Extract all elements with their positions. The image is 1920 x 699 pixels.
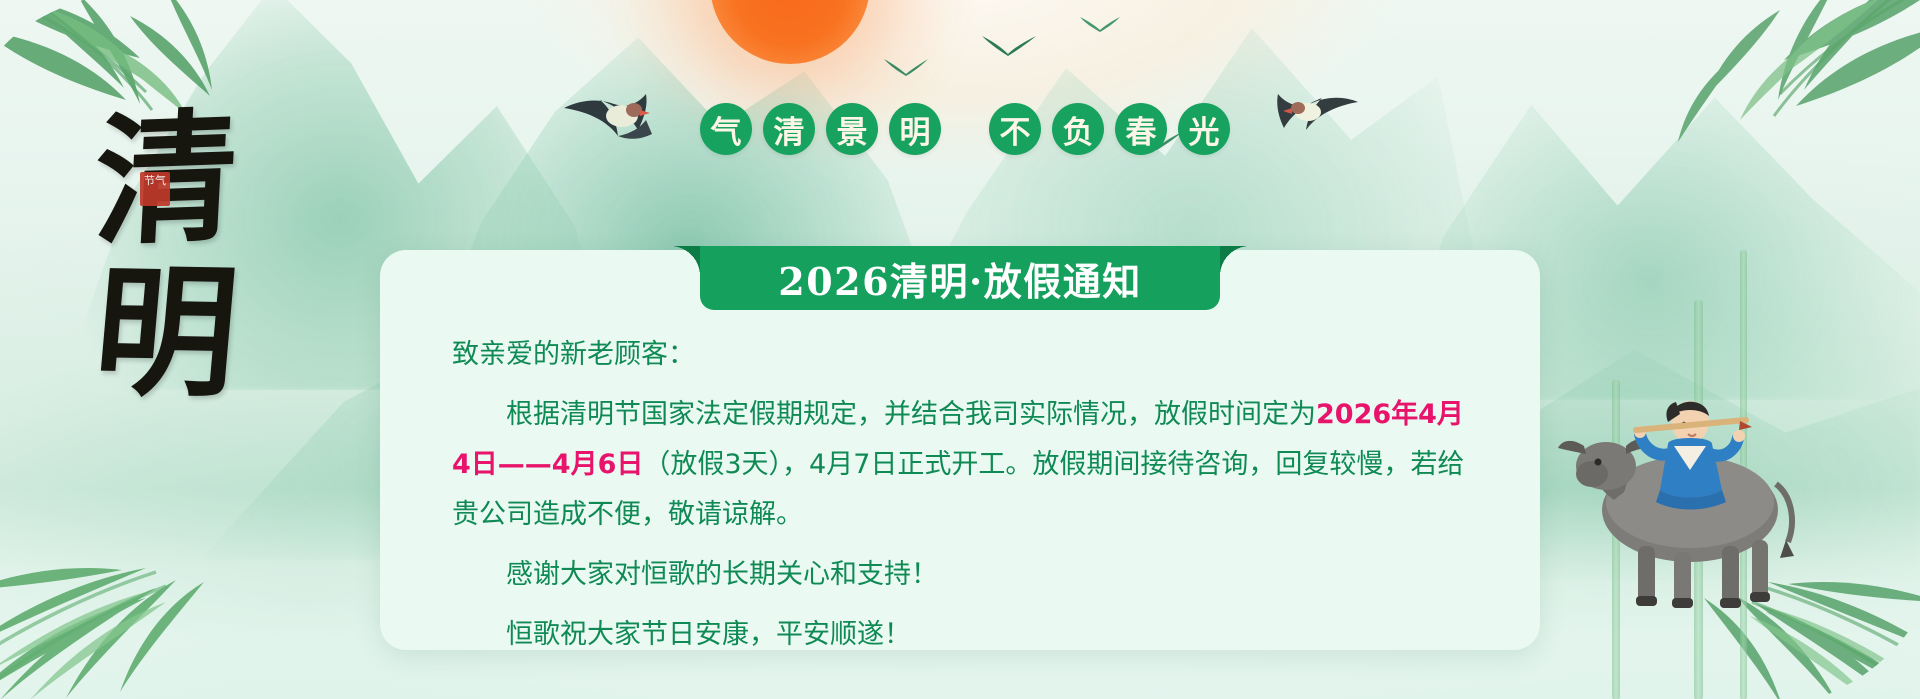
slogan-pill: 光 [1178, 103, 1230, 155]
slogan-pill: 清 [763, 103, 815, 155]
notice-salutation: 致亲爱的新老顾客： [452, 330, 1472, 380]
notice-main-pre: 根据清明节国家法定假期规定，并结合我司实际情况，放假时间定为 [506, 399, 1316, 430]
slogan-pill: 负 [1052, 103, 1104, 155]
calligraphy-title: 清 明 [52, 115, 282, 398]
bamboo-leaves-icon [1620, 420, 1920, 699]
calligraphy-char-ming: 明 [46, 266, 287, 401]
swallow-icon [1268, 84, 1364, 144]
bamboo-leaves-icon [0, 0, 310, 176]
slogan-pill: 明 [889, 103, 941, 155]
bamboo-leaves-icon [1580, 0, 1920, 204]
bamboo-stalk [1694, 300, 1703, 699]
bamboo-stalk [1740, 250, 1747, 699]
notice-body: 致亲爱的新老顾客： 根据清明节国家法定假期规定，并结合我司实际情况，放假时间定为… [452, 330, 1472, 670]
slogan-pill: 气 [700, 103, 752, 155]
notice-main-paragraph: 根据清明节国家法定假期规定，并结合我司实际情况，放假时间定为2026年4月4日—… [452, 390, 1472, 540]
notice-title: 2026清明·放假通知 [778, 251, 1142, 306]
slogan-pill: 景 [826, 103, 878, 155]
bamboo-leaves-icon [0, 400, 300, 699]
slogan-pill: 不 [989, 103, 1041, 155]
herd-boy-on-ox-figure [1540, 350, 1840, 620]
notice-title-tab: 2026清明·放假通知 [700, 246, 1220, 310]
slogan-pill: 春 [1115, 103, 1167, 155]
bamboo-stalk [1612, 380, 1620, 699]
qingming-holiday-banner: 清 明 节气 气 清 景 明 不 负 春 光 2026清明·放假通知 致亲爱的新… [0, 0, 1920, 699]
slogan-row: 气 清 景 明 不 负 春 光 [700, 103, 1230, 155]
seal-stamp: 节气 [140, 172, 170, 206]
swallow-icon [980, 32, 1038, 58]
notice-thanks: 感谢大家对恒歌的长期关心和支持！ [452, 550, 1472, 600]
swallow-icon [1078, 14, 1122, 34]
notice-wish: 恒歌祝大家节日安康，平安顺遂！ [452, 610, 1472, 660]
